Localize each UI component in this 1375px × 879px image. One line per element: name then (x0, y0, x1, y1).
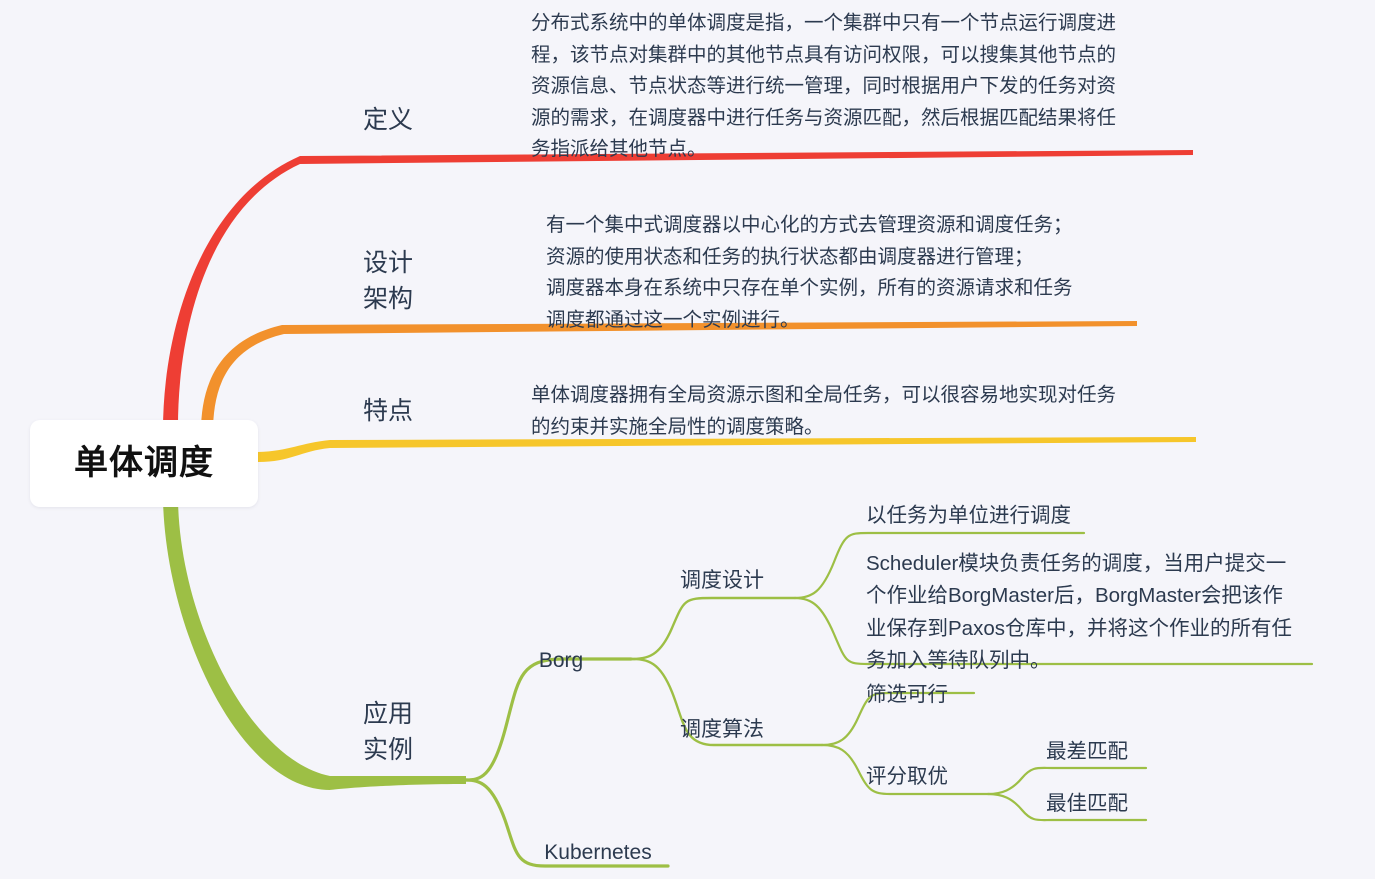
leaf-score-best[interactable]: 评分取优 (866, 762, 962, 791)
topic-design-architecture[interactable]: 设计 架构 (357, 246, 419, 317)
content-design-architecture: 有一个集中式调度器以中心化的方式去管理资源和调度任务； 资源的使用状态和任务的执… (546, 210, 1156, 336)
connector-borg-scheduling-design (631, 598, 795, 659)
topic-kubernetes[interactable]: Kubernetes (530, 838, 666, 868)
mindmap-canvas: 单体调度 定义 分布式系统中的单体调度是指，一个集群中只有一个节点运行调度进 程… (0, 0, 1375, 879)
content-definition: 分布式系统中的单体调度是指，一个集群中只有一个节点运行调度进 程，该节点对集群中… (531, 8, 1199, 166)
connector-applications-borg (466, 659, 631, 780)
root-node-label: 单体调度 (74, 439, 214, 487)
topic-applications[interactable]: 应用 实例 (357, 697, 419, 768)
topic-scheduling-design[interactable]: 调度设计 (676, 566, 768, 596)
root-node[interactable]: 单体调度 (30, 420, 258, 507)
leaf-filter-feasible[interactable]: 筛选可行 (866, 680, 962, 709)
leaf-best-fit[interactable]: 最佳匹配 (1046, 789, 1142, 818)
topic-borg[interactable]: Borg (528, 646, 594, 676)
leaf-task-unit[interactable]: 以任务为单位进行调度 (866, 501, 1092, 530)
leaf-worst-fit[interactable]: 最差匹配 (1046, 737, 1142, 766)
topic-definition[interactable]: 定义 (344, 103, 432, 139)
topic-scheduling-algorithm[interactable]: 调度算法 (676, 715, 768, 745)
topic-features[interactable]: 特点 (356, 394, 420, 430)
content-features: 单体调度器拥有全局资源示图和全局任务，可以很容易地实现对任务 的约束并实施全局性… (531, 380, 1203, 443)
branch-path-applications (163, 500, 466, 790)
leaf-scheduler-module: Scheduler模块负责任务的调度，当用户提交一 个作业给BorgMaster… (866, 548, 1318, 678)
